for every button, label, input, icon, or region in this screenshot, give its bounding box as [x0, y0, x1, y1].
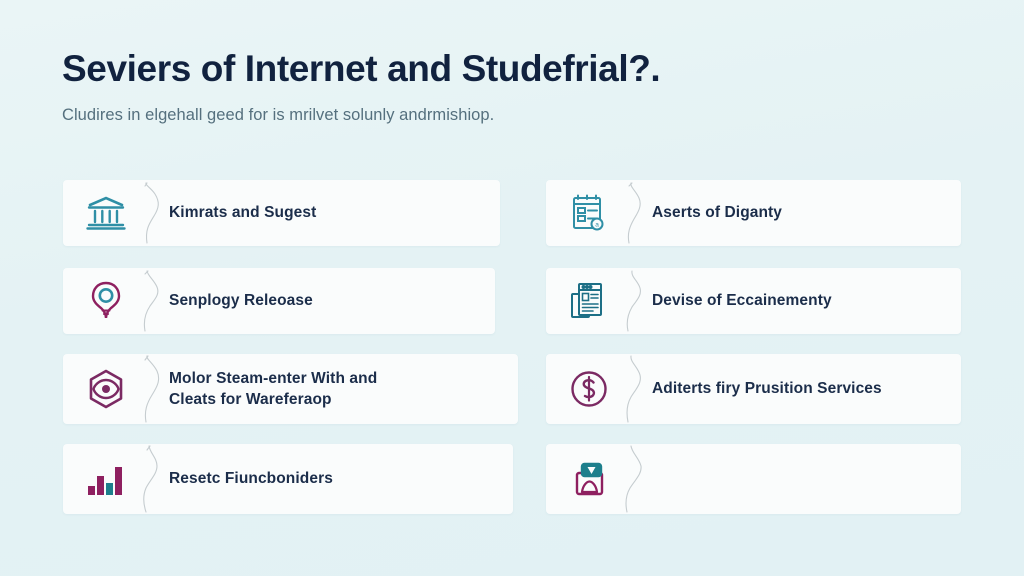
- service-card-aserts-of-diganty[interactable]: a Aserts of Diganty: [546, 180, 961, 246]
- service-card-devise-of-eccainementy[interactable]: Devise of Eccainementy: [546, 268, 961, 334]
- bank-building-icon: [77, 194, 135, 232]
- service-card-resetc-fiuncboniders[interactable]: Resetc Fiuncboniders: [63, 444, 513, 514]
- page-subtitle: Cludires in elgehall geed for is mrilvet…: [62, 105, 962, 126]
- card-label: Senplogy Releoase: [169, 290, 331, 311]
- squiggle-divider: [618, 180, 652, 246]
- service-card-molor-steam-enter[interactable]: Molor Steam-enter With and Cleats for Wa…: [63, 354, 518, 424]
- stacked-documents-icon: [560, 281, 618, 321]
- card-label: Resetc Fiuncboniders: [169, 468, 351, 489]
- page-title: Seviers of Internet and Studefrial?.: [62, 48, 962, 89]
- service-card-senplogy-releoase[interactable]: Senplogy Releoase: [63, 268, 495, 334]
- hexagon-eye-icon: [77, 368, 135, 410]
- dollar-circle-icon: [560, 369, 618, 409]
- card-label: Molor Steam-enter With and Cleats for Wa…: [169, 368, 395, 411]
- card-row: Resetc Fiuncboniders: [0, 442, 1024, 530]
- card-label: Devise of Eccainementy: [652, 290, 850, 311]
- page-root: Seviers of Internet and Studefrial?. Clu…: [0, 0, 1024, 576]
- service-card-grid: Kimrats and Sugest a: [0, 178, 1024, 530]
- squiggle-divider: [135, 180, 169, 246]
- card-label: Aserts of Diganty: [652, 202, 800, 223]
- service-card-kimrats-and-sugest[interactable]: Kimrats and Sugest: [63, 180, 500, 246]
- page-header: Seviers of Internet and Studefrial?. Clu…: [62, 48, 962, 127]
- card-row: Senplogy Releoase: [0, 266, 1024, 354]
- card-row: Kimrats and Sugest a: [0, 178, 1024, 266]
- svg-text:a: a: [595, 222, 599, 229]
- squiggle-divider: [135, 354, 169, 424]
- document-form-icon: a: [560, 193, 618, 233]
- lightbulb-pin-icon: [77, 280, 135, 322]
- service-card-aditerts-firy-prusition-services[interactable]: Aditerts firy Prusition Services: [546, 354, 961, 424]
- squiggle-divider: [618, 444, 652, 514]
- squiggle-divider: [135, 444, 169, 514]
- squiggle-divider: [618, 268, 652, 334]
- card-label: Aditerts firy Prusition Services: [652, 378, 900, 399]
- squiggle-divider: [618, 354, 652, 424]
- archive-box-icon: [560, 459, 618, 499]
- service-card-unlabeled[interactable]: [546, 444, 961, 514]
- card-row: Molor Steam-enter With and Cleats for Wa…: [0, 354, 1024, 442]
- squiggle-divider: [135, 268, 169, 334]
- card-label: Kimrats and Sugest: [169, 202, 334, 223]
- bar-chart-icon: [77, 462, 135, 496]
